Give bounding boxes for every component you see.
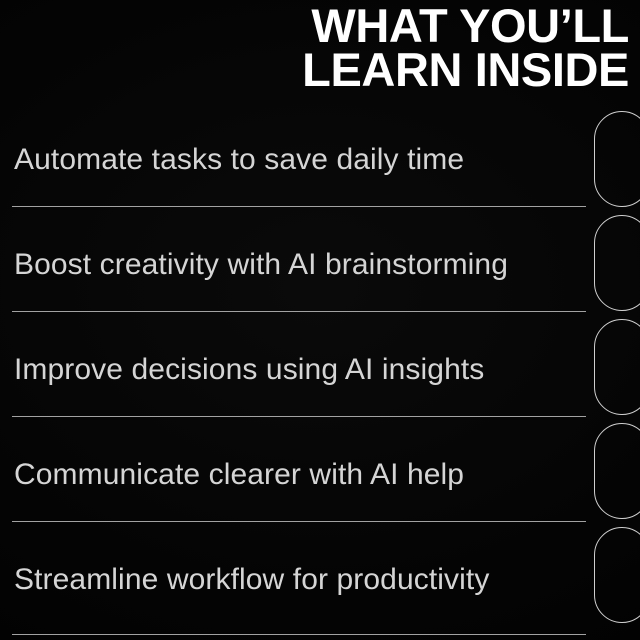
list-item[interactable]: Communicate clearer with AI help bbox=[0, 427, 640, 532]
list-item-label: Improve decisions using AI insights bbox=[14, 352, 484, 388]
list-item-label: Communicate clearer with AI help bbox=[14, 457, 464, 493]
capsule-outline-icon bbox=[594, 423, 640, 519]
page-title-line-2: LEARN INSIDE bbox=[9, 48, 629, 92]
capsule-outline-icon bbox=[594, 319, 640, 415]
list-item[interactable]: Improve decisions using AI insights bbox=[0, 322, 640, 427]
slide-canvas: WHAT YOU’LL LEARN INSIDE Automate tasks … bbox=[0, 0, 640, 640]
list-item-divider bbox=[12, 634, 586, 635]
capsule-outline-icon bbox=[594, 215, 640, 311]
list-item-label: Streamline workflow for productivity bbox=[14, 562, 489, 598]
list-item[interactable]: Streamline workflow for productivity bbox=[0, 532, 640, 636]
page-title-line-1: WHAT YOU’LL bbox=[9, 4, 629, 48]
list-item-label: Automate tasks to save daily time bbox=[14, 142, 464, 178]
page-title: WHAT YOU’LL LEARN INSIDE bbox=[9, 4, 629, 92]
list-item-divider bbox=[12, 416, 586, 417]
list-item-divider bbox=[12, 521, 586, 522]
list-item-divider bbox=[12, 311, 586, 312]
capsule-outline-icon bbox=[594, 111, 640, 207]
list-item[interactable]: Automate tasks to save daily time bbox=[0, 112, 640, 217]
learn-list: Automate tasks to save daily time Boost … bbox=[0, 112, 640, 636]
list-item-divider bbox=[12, 206, 586, 207]
list-item[interactable]: Boost creativity with AI brainstorming bbox=[0, 217, 640, 322]
list-item-label: Boost creativity with AI brainstorming bbox=[14, 247, 508, 283]
capsule-outline-icon bbox=[594, 527, 640, 623]
pill-column bbox=[594, 111, 640, 631]
